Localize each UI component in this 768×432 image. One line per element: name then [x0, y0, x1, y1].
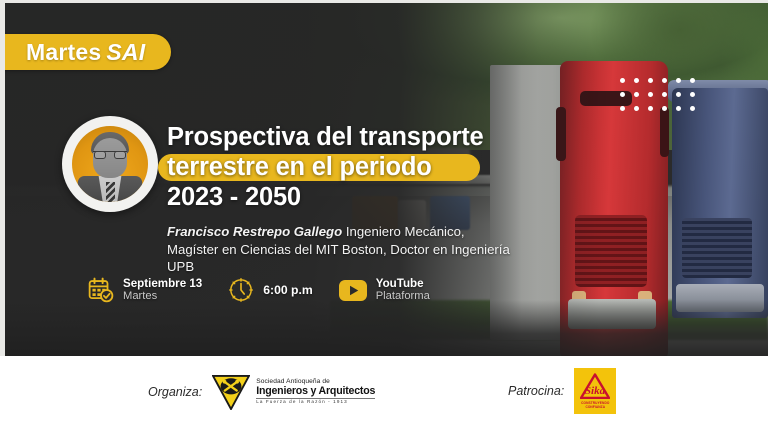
organizer-block: Organiza: Sociedad Antioqueña de Ingenie… — [148, 374, 375, 410]
title-line-1: Prospectiva del transporte — [167, 122, 597, 152]
portrait-tie — [106, 182, 115, 202]
badge-word-martes: Martes — [26, 39, 101, 65]
speaker-name: Francisco Restrepo Gallego — [167, 224, 342, 239]
badge-label: MartesSAI — [26, 39, 145, 66]
speaker-portrait — [80, 132, 140, 202]
speaker-credentials: Francisco Restrepo Gallego Ingeniero Mec… — [167, 223, 512, 276]
dot-grid-icon — [620, 78, 704, 120]
speaker-avatar — [62, 116, 158, 212]
portrait-glasses-lens-left — [94, 151, 106, 159]
clock-icon — [228, 277, 254, 303]
sika-tagline: CONSTRUYENDO CONFIANZA — [574, 401, 616, 409]
sika-logo: Sika CONSTRUYENDO CONFIANZA — [574, 368, 616, 414]
sai-logo-text: Sociedad Antioqueña de Ingenieros y Arqu… — [256, 379, 375, 405]
sika-triangle-icon: Sika — [580, 373, 610, 399]
title-line-2: terrestre en el periodo — [167, 152, 597, 182]
event-date: Septiembre 13 Martes — [88, 277, 202, 303]
event-platform: YouTube Plataforma — [339, 277, 430, 303]
avatar-photo — [72, 126, 148, 202]
svg-text:Sika: Sika — [585, 385, 606, 397]
martes-sai-badge: MartesSAI — [0, 34, 171, 70]
sponsor-block: Patrocina: Sika CONSTRUYENDO CONFIANZA — [508, 368, 616, 414]
poster-footer: Organiza: Sociedad Antioqueña de Ingenie… — [0, 356, 768, 432]
event-poster: MartesSAI Prospectiva del transporte — [0, 0, 768, 432]
event-details-row: Septiembre 13 Martes 6:00 p.m — [88, 277, 430, 303]
sai-logo-line3: La Fuerza de la Razón - 1913 — [256, 398, 375, 405]
calendar-check-icon — [88, 277, 114, 303]
title-block: Prospectiva del transporte terrestre en … — [167, 122, 597, 276]
portrait-jacket-right — [117, 176, 144, 202]
date-primary: Septiembre 13 — [123, 277, 202, 290]
date-text: Septiembre 13 Martes — [123, 277, 202, 303]
youtube-icon — [339, 280, 367, 301]
platform-secondary: Plataforma — [376, 290, 430, 303]
platform-primary: YouTube — [376, 277, 430, 290]
patrocina-label: Patrocina: — [508, 384, 564, 398]
title-line-2-highlight: terrestre en el periodo — [167, 152, 597, 182]
title-line-3: 2023 - 2050 — [167, 182, 597, 212]
bottom-fade-overlay — [0, 300, 768, 356]
sai-logo: Sociedad Antioqueña de Ingenieros y Arqu… — [212, 374, 375, 410]
sai-triangle-icon — [212, 374, 250, 410]
event-time: 6:00 p.m — [228, 277, 312, 303]
time-value: 6:00 p.m — [263, 283, 312, 297]
badge-word-sai: SAI — [106, 39, 145, 65]
date-secondary: Martes — [123, 290, 202, 303]
organiza-label: Organiza: — [148, 385, 202, 399]
portrait-jacket-left — [77, 176, 104, 202]
portrait-glasses-lens-right — [114, 151, 126, 159]
sai-logo-line2: Ingenieros y Arquitectos — [256, 386, 375, 397]
platform-text: YouTube Plataforma — [376, 277, 430, 303]
